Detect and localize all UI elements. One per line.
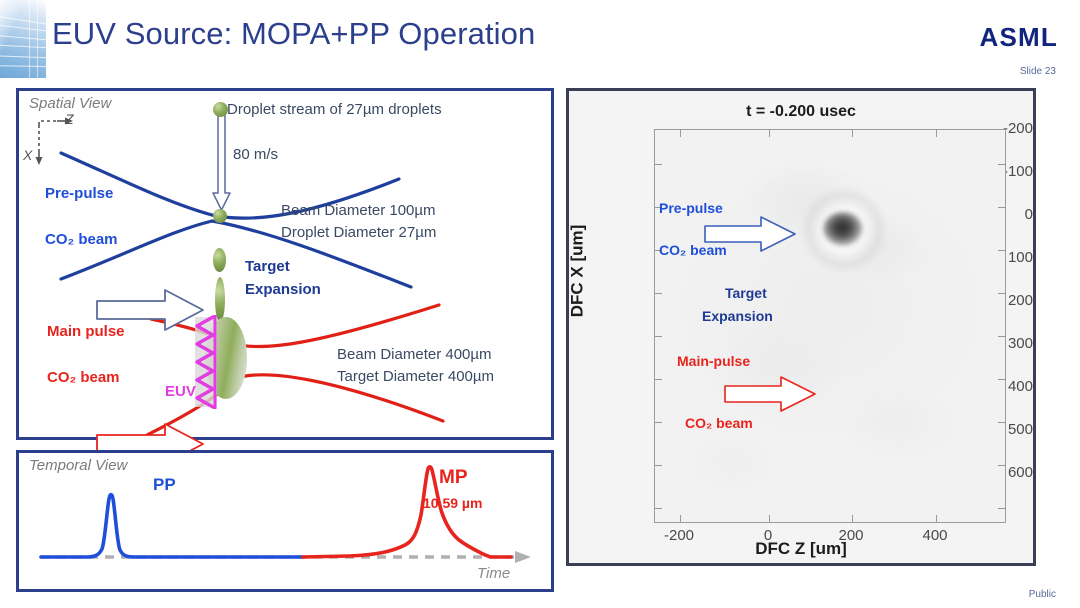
droplet-initial [213,102,228,117]
mp-wavelength-label: 10.59 µm [423,495,482,511]
plot-target-expansion-line1: Target [725,285,767,301]
prepulse-beam-label: CO₂ beam [45,231,118,248]
plot-mainpulse-arrow [723,375,818,413]
decorative-corner-image [0,0,46,78]
pp-label: PP [153,475,176,495]
shadowgraph-background-texture [655,130,1005,522]
asml-logo: ASML [980,22,1058,53]
mainpulse-label: Main pulse [47,323,125,340]
slide-number: Slide 23 [1020,66,1056,77]
droplet-stream-text: Droplet stream of 27µm droplets [227,101,442,118]
temporal-view-panel: Temporal View PP MP 10.59 µm Time [16,450,554,592]
mainpulse-beam-label: CO₂ beam [47,369,120,386]
page-title: EUV Source: MOPA+PP Operation [52,16,535,52]
plot-axes-box: Pre-pulse CO₂ beam Target Expansion Main… [654,129,1006,523]
main-target-diameter: Target Diameter 400µm [337,368,494,385]
droplet-expanding-1 [213,248,226,272]
prepulse-label: Pre-pulse [45,185,113,202]
plot-prepulse-arrow [703,215,798,253]
droplet-stream-arrow [211,115,233,213]
droplet-speed-text: 80 m/s [233,146,278,163]
plot-target-expansion-line2: Expansion [702,308,773,324]
x-tick-label: 0 [738,527,798,544]
droplet-blob [823,212,863,246]
temporal-waveform [19,453,551,589]
slide-root: EUV Source: MOPA+PP Operation ASML Slide… [0,0,1080,608]
x-tick-label: 400 [905,527,965,544]
mp-label: MP [439,467,468,489]
main-beam-diameter: Beam Diameter 400µm [337,346,492,363]
spatial-view-panel: Spatial View Z X [16,88,554,440]
y-axis-label: DFC X [um] [567,225,587,318]
plot-prepulse-label: Pre-pulse [659,200,723,216]
x-tick-label: 200 [821,527,881,544]
droplet-at-prepulse [213,209,227,223]
x-tick-label: -200 [649,527,709,544]
classification-label: Public [1029,589,1056,600]
plot-mainpulse-beam-label: CO₂ beam [685,415,753,431]
prepulse-droplet-diameter: Droplet Diameter 27µm [281,224,436,241]
plot-title: t = -0.200 usec [569,103,1033,121]
prepulse-beam-diameter: Beam Diameter 100µm [281,202,436,219]
time-axis-label: Time [477,565,510,582]
shadowgraph-image-panel: t = -0.200 usec DFC X [um] DFC Z [um] -2… [566,88,1036,566]
target-expansion-line2: Expansion [245,281,321,298]
euv-label: EUV [165,383,196,400]
plot-mainpulse-label: Main-pulse [677,353,750,369]
target-expansion-line1: Target [245,258,290,275]
